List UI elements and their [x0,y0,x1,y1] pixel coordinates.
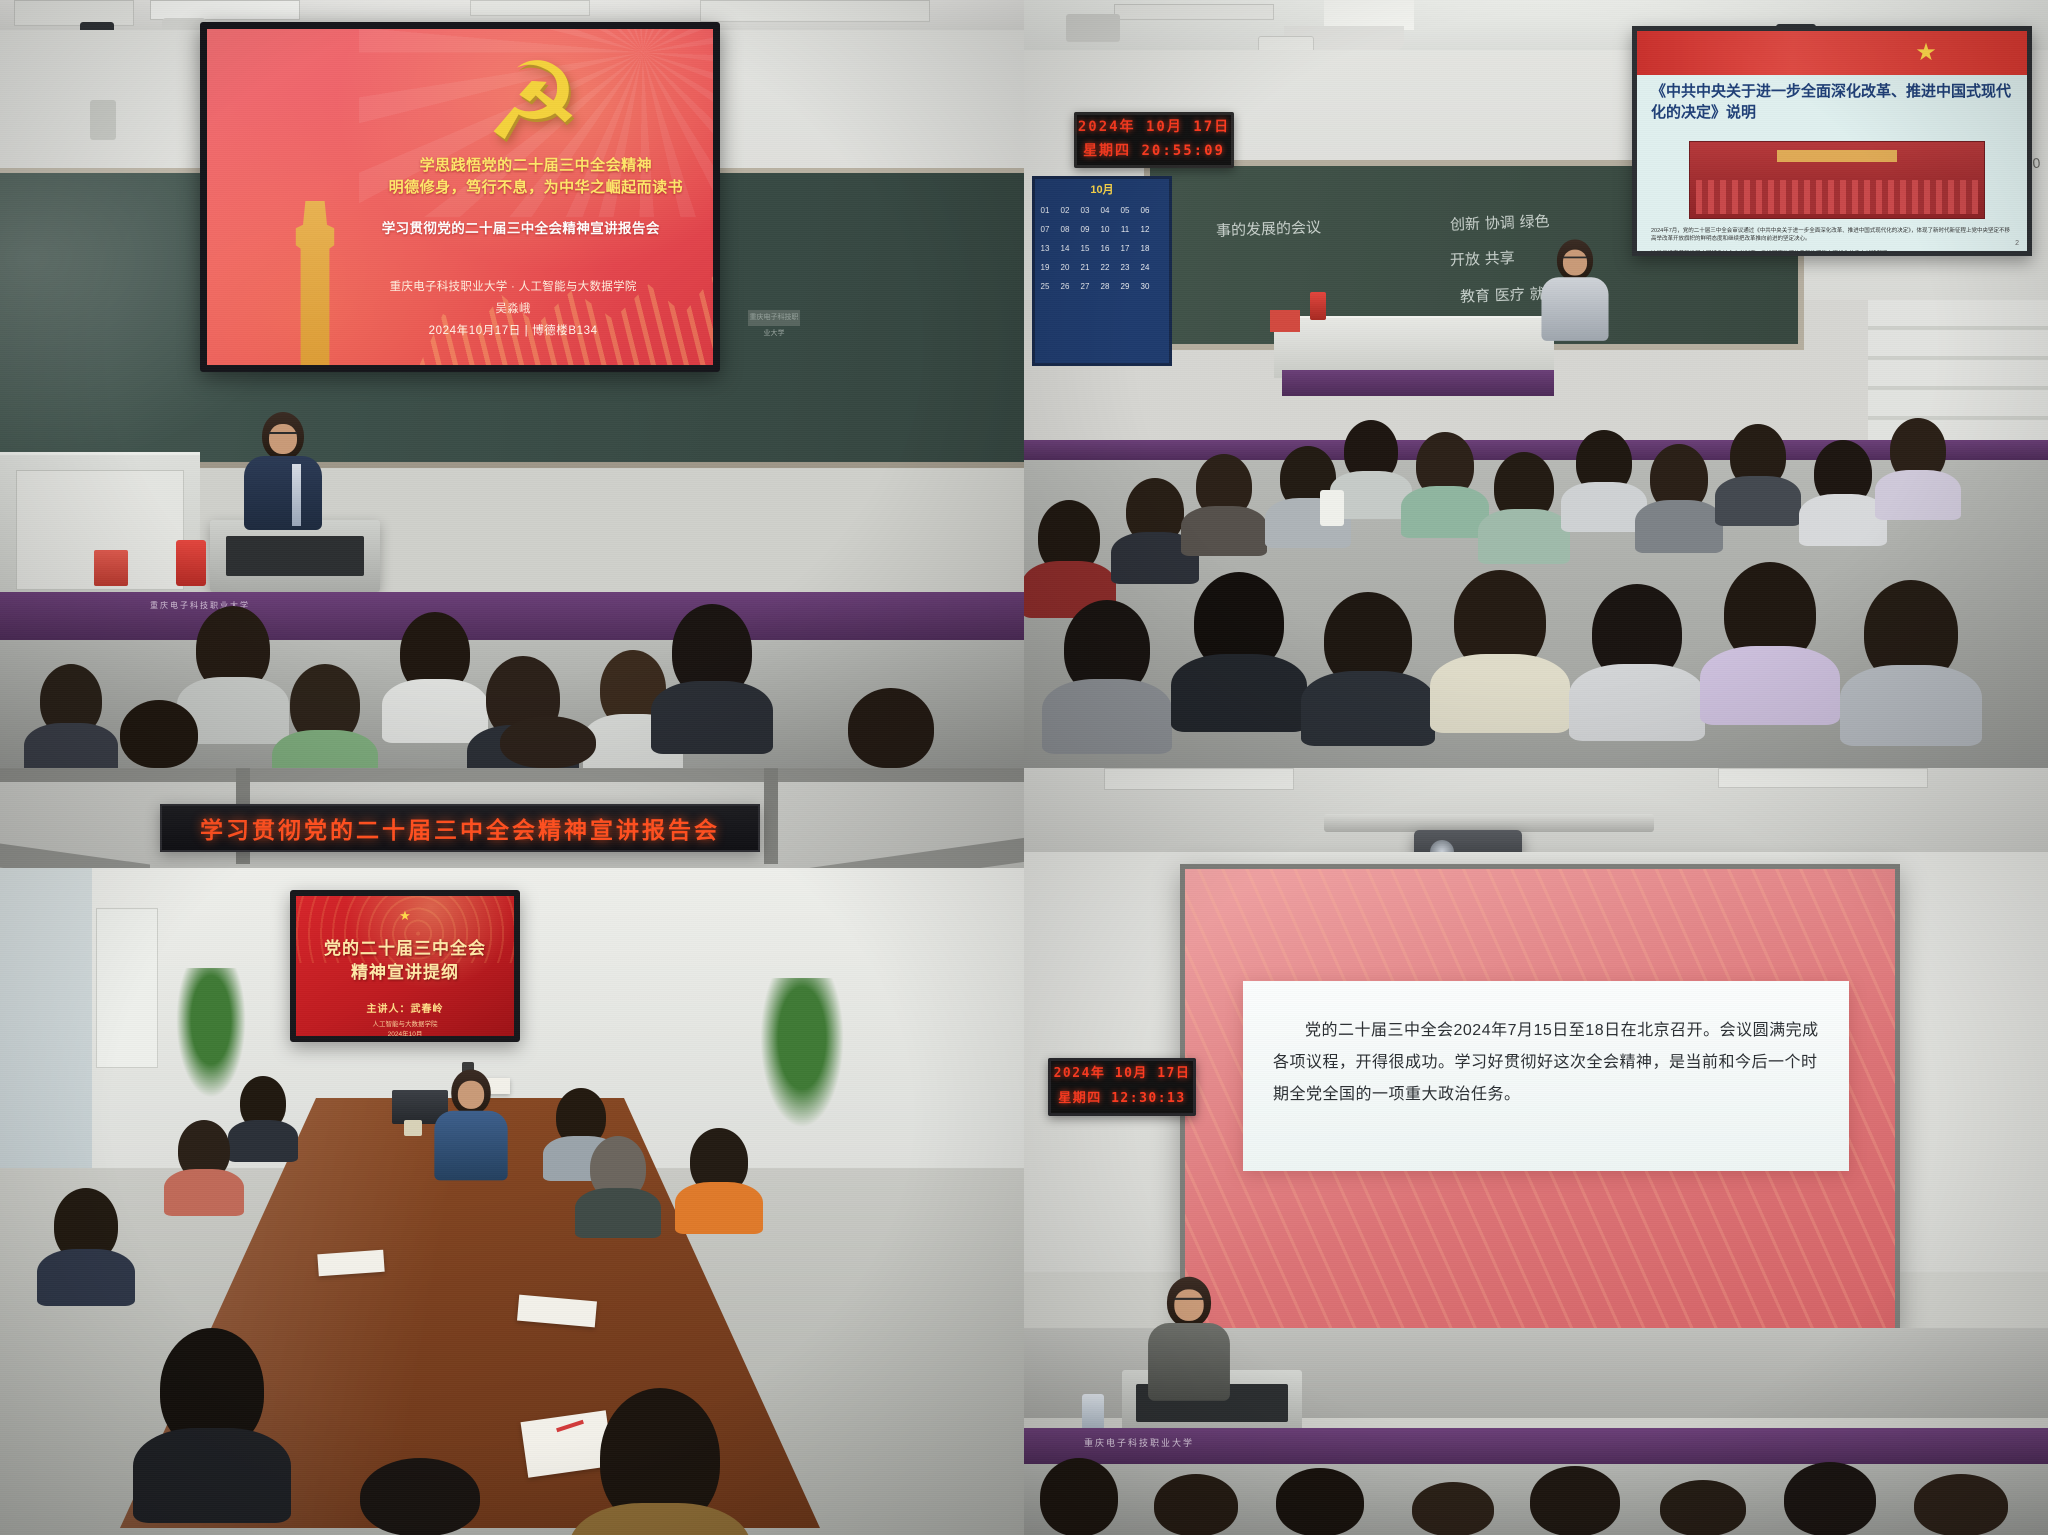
teacher-desk [1274,316,1554,378]
audience-shoulder [24,723,118,768]
calendar-day: 05 [1115,201,1135,220]
speaker-head [1557,239,1593,280]
led-clock-date: 2024年 10月 17日 [1051,1061,1193,1086]
calendar-day: 17 [1115,239,1135,258]
audience-head [1660,1480,1746,1535]
slide-headline-line2: 明德修身，笃行不息，为中华之崛起而读书 [379,177,693,199]
jacket-stripe [292,464,301,526]
presenter-body [434,1111,507,1181]
audience-head [500,716,596,768]
speaker-body [1148,1323,1230,1401]
slide-body-paragraph-1: 2024年7月，党的二十届三中全会审议通过《中共中央关于进一步全面深化改革、推进… [1651,227,2013,244]
calendar-day: 29 [1115,277,1135,296]
speaker-body [244,456,322,530]
calendar-day: 22 [1095,258,1115,277]
coffee-cup [1320,490,1344,526]
tv-slide-title-line2: 精神宣讲提纲 [296,958,514,983]
glasses-icon [269,432,297,439]
photo-emblem-bar [1777,150,1897,162]
attendee-shoulder [164,1169,243,1216]
audience-head [1592,584,1682,682]
speaker-head [262,412,304,460]
lectern-monitor [226,536,364,576]
calendar-day: 18 [1135,239,1155,258]
ceiling-light [150,0,300,20]
audience-head [1040,1458,1118,1535]
attendee-shoulder [37,1249,134,1307]
audience-head [196,606,270,692]
attendee-head [54,1188,118,1262]
audience-head [1154,1474,1238,1535]
photo-seating-rows [1696,180,1978,214]
calendar-day: 12 [1135,220,1155,239]
calendar-day: 23 [1115,258,1135,277]
audience-head [1784,1462,1876,1535]
led-clock-time: 星期四 20:55:09 [1077,139,1231,163]
projection-screen: ★ 《中共中央关于进一步全面深化改革、推进中国式现代化的决定》说明 2024年7… [1632,26,2032,256]
slide-title-page: ☭ 学思践悟党的二十届三中全会精神 明德修身，笃行不息，为中华之崛起而读书 学习… [207,29,713,365]
ceiling-panel [700,0,930,22]
audience-head [1890,418,1946,482]
slide-body-text: 2024年7月，党的二十届三中全会审议通过《中共中央关于进一步全面深化改革、推进… [1651,227,2013,256]
slide-photo [1689,141,1985,219]
audience-head [1412,1482,1494,1535]
audience-head [1454,570,1546,672]
attendee-shoulder [133,1428,291,1523]
lectern [210,520,380,592]
speaker-person [262,412,304,460]
calendar-day: 20 [1055,258,1075,277]
calendar-day: 13 [1035,239,1055,258]
desk-item [404,1120,422,1136]
audience-head [1730,424,1786,488]
tv-display: ★ 党的二十届三中全会 精神宣讲提纲 主讲人：武春岭 人工智能与大数据学院 20… [290,890,520,1042]
led-clock: 2024年 10月 17日 星期四 12:30:13 [1048,1058,1196,1116]
potted-plant [176,968,246,1098]
slide-headline: 学思践悟党的二十届三中全会精神 明德修身，笃行不息，为中华之崛起而读书 [379,155,693,199]
wall-speaker [1066,14,1120,42]
side-wall [0,868,92,1198]
audience-shoulder [1430,654,1570,734]
document-sheet [317,1250,384,1277]
audience-head [1276,1468,1364,1535]
audience-head [848,688,934,768]
potted-plant [760,978,844,1128]
calendar-day: 01 [1035,201,1055,220]
calendar-day: 24 [1135,258,1155,277]
chalk-note: 事的发展的会议 [1216,216,1322,242]
audience-shoulder [1171,654,1308,732]
calendar-day: 11 [1115,220,1135,239]
audience-head [120,700,198,768]
calendar-day: 08 [1055,220,1075,239]
calendar-day: 30 [1135,277,1155,296]
audience-shoulder [1042,679,1173,754]
calendar-day: 10 [1095,220,1115,239]
calendar-day: 06 [1135,201,1155,220]
audience-head [1914,1474,2008,1535]
audience-shoulder [1700,646,1840,726]
calendar-day: 21 [1075,258,1095,277]
audience-shoulder [1561,482,1646,532]
audience-head [400,612,470,694]
ceiling-beam [0,768,1024,782]
calendar-day: 26 [1055,277,1075,296]
audience-shoulder [382,679,488,743]
panel-classroom-students: 事的发展的会议 创新 协调 绿色 开放 共享 教育 医疗 就业 31~60 ★ … [1024,0,2048,768]
ceiling-panel [14,0,134,26]
slide-text-card: 党的二十届三中全会2024年7月15日至18日在北京召开。会议圆满完成各项议程，… [1243,981,1849,1171]
audience-shoulder [272,730,378,768]
ceiling-panel [1718,768,1928,788]
school-plate: 重庆电子科技职业大学 [748,310,800,326]
panel-auditorium-big-screen: 党的二十届三中全会2024年7月15日至18日在北京召开。会议圆满完成各项议程，… [1024,768,2048,1535]
photo-collage: 重庆电子科技职业大学 ☭ 学思践悟党的二十届三中全会精神 明德修身，笃行不息，为… [0,0,2048,1535]
speaker-head [1167,1277,1211,1327]
audience-shoulder [1799,494,1887,545]
desk-skirt [1282,370,1554,396]
audience-head [1126,478,1184,544]
speaker-person [1557,239,1593,280]
chalk-note: 开放 共享 [1450,247,1516,272]
panel-lecture-hall-projector: 重庆电子科技职业大学 ☭ 学思践悟党的二十届三中全会精神 明德修身，笃行不息，为… [0,0,1024,768]
audience-shoulder [1569,664,1706,740]
audience-head [1344,420,1398,482]
water-bottle [1310,292,1326,320]
audience-shoulder [1715,476,1800,526]
audience-head [1530,1466,1620,1535]
audience-head [1064,600,1150,696]
tv-slide-presenter: 主讲人：武春岭 [296,1000,514,1015]
attendee-head [178,1120,230,1180]
slide-title: 《中共中央关于进一步全面深化改革、推进中国式现代化的决定》说明 [1651,81,2013,123]
slide-presenter: 吴淼峨 [328,299,697,321]
audience-head [1038,500,1100,574]
speaker-person [1167,1277,1211,1327]
audience-head [1864,580,1958,684]
slide-date-venue: 2024年10月17日 | 博德楼B134 [328,321,697,343]
chalk-note: 创新 协调 绿色 [1450,210,1550,236]
audience-head [290,664,360,744]
audience-head [1814,440,1872,506]
ceiling-panel [1114,4,1274,20]
audience-head [1416,432,1474,498]
star-icon: ★ [1903,39,1949,67]
panel-meeting-room: 学习贯彻党的二十届三中全会精神宣讲报告会 ★ 党的二十届三中全会 精神宣讲提纲 … [0,768,1024,1535]
bench-label: 重庆电子科技职业大学 [1084,1436,1194,1449]
audience-shoulder [1301,671,1435,746]
audience-shoulder [1635,500,1723,553]
calendar-day: 16 [1095,239,1115,258]
audience-shoulder [1401,486,1489,537]
audience-shoulder [1181,506,1266,556]
audience-head [1724,562,1816,664]
calendar-day: 02 [1055,201,1075,220]
audience-head [1196,454,1252,518]
attendee-shoulder [575,1188,660,1238]
red-box [94,550,128,586]
glasses-icon [1174,1298,1203,1305]
presenter-person [451,1069,490,1114]
led-clock-time: 星期四 12:30:13 [1051,1086,1193,1111]
audience-head [1494,452,1554,522]
cabinet [96,908,158,1068]
water-bottle [1082,1394,1104,1430]
audience-head [40,664,102,736]
calendar-day: 27 [1075,277,1095,296]
calendar-day: 04 [1095,201,1115,220]
slide-footer: 重庆电子科技职业大学 · 人工智能与大数据学院 吴淼峨 2024年10月17日 … [328,277,697,343]
attendee-head [590,1136,646,1200]
projection-screen: 党的二十届三中全会2024年7月15日至18日在北京召开。会议圆满完成各项议程，… [1180,864,1900,1334]
event-banner: 学习贯彻党的二十届三中全会精神宣讲报告会 [160,804,760,852]
slide-headline-line1: 学思践悟党的二十届三中全会精神 [379,155,693,177]
slide-header-band: ★ [1637,31,2027,75]
audience-head [1194,572,1284,672]
calendar-day: 09 [1075,220,1095,239]
tv-slide-title-line1: 党的二十届三中全会 [296,934,514,959]
projector-screen-frame: ☭ 学思践悟党的二十届三中全会精神 明德修身，笃行不息，为中华之崛起而读书 学习… [200,22,720,372]
attendee-head [690,1128,748,1194]
audience-head [1576,430,1632,494]
calendar-day: 07 [1035,220,1055,239]
slide-subtitle: 学习贯彻党的二十届三中全会精神宣讲报告会 [349,217,693,237]
tv-slide-org: 人工智能与大数据学院 2024年10月 [296,1020,514,1036]
audience-shoulder [651,681,773,754]
slide-organization: 重庆电子科技职业大学 · 人工智能与大数据学院 [328,277,697,299]
attendee-head [240,1076,286,1130]
attendee-head [600,1388,720,1528]
attendee-head [556,1088,606,1146]
speaker-body [1541,277,1608,341]
calendar-header: 10月 [1035,179,1169,201]
speaker-face [269,424,297,454]
audience-head [672,604,752,698]
ceiling-post [764,768,778,864]
presenter-face [458,1081,484,1109]
event-banner-text: 学习贯彻党的二十届三中全会精神宣讲报告会 [200,811,720,845]
audience-head [1650,444,1708,512]
calendar-day: 28 [1095,277,1115,296]
tv-slide-org-line1: 人工智能与大数据学院 [296,1020,514,1030]
attendee-head [160,1328,264,1450]
red-box [1270,310,1300,332]
calendar-day: 14 [1055,239,1075,258]
tv-slide: ★ 党的二十届三中全会 精神宣讲提纲 主讲人：武春岭 人工智能与大数据学院 20… [296,896,514,1036]
led-clock: 2024年 10月 17日 星期四 20:55:09 [1074,112,1234,168]
presenter-head [451,1069,490,1114]
slide-page-number: 2 [2015,240,2019,247]
glasses-icon [1563,257,1587,263]
calendar-day: 25 [1035,277,1055,296]
ceiling-panel [470,0,590,16]
wall-mount-arm [90,100,116,140]
attendee-shoulder [228,1120,298,1162]
calendar-day: 19 [1035,258,1055,277]
audience-head [1324,592,1412,688]
attendee-head [360,1458,480,1535]
slide-body-paragraph-2: 这是继续完善和发展中国特色社会主义制度、推进国家治理体系和治理能力现代化的重大战… [1651,250,2013,257]
attendee-shoulder [675,1182,763,1233]
audience-shoulder [1840,665,1983,746]
tv-slide-org-line2: 2024年10月 [296,1030,514,1036]
calendar-day: 15 [1075,239,1095,258]
led-clock-date: 2024年 10月 17日 [1077,115,1231,139]
water-bottle [176,540,206,586]
calendar-day: 03 [1075,201,1095,220]
slide-body-text: 党的二十届三中全会2024年7月15日至18日在北京召开。会议圆满完成各项议程，… [1243,981,1849,1111]
party-emblem-icon: ☭ [473,53,593,157]
audience-shoulder [1875,470,1960,520]
audience-shoulder [1478,509,1569,564]
ceiling-panel [1104,768,1294,790]
wall-calendar: 10月 010203040506070809101112131415161718… [1032,176,1172,366]
star-icon: ★ [399,908,411,924]
